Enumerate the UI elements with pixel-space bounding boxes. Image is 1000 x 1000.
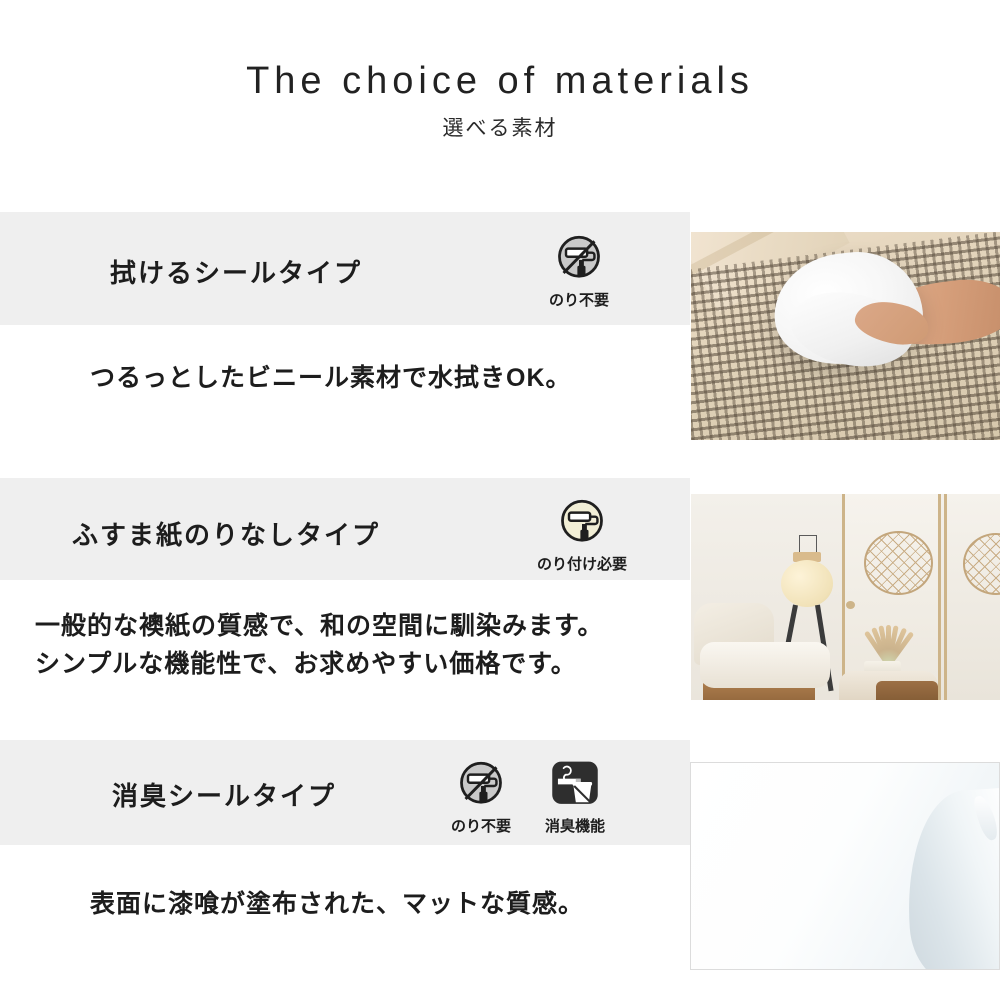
no-glue-roller-icon: [455, 760, 507, 812]
no-glue-roller-icon: [553, 234, 605, 286]
pampas-grass: [852, 607, 920, 665]
badge-deodorize: 消臭機能: [536, 760, 614, 836]
badge-glue-required: のり付け必要: [520, 498, 644, 574]
materials-page: The choice of materials 選べる素材 拭けるシールタイプ: [0, 0, 1000, 1000]
card-3-title: 消臭シールタイプ: [112, 776, 336, 813]
page-subtitle: 選べる素材: [0, 112, 1000, 142]
card-2-title: ふすま紙のりなしタイプ: [72, 515, 380, 552]
badge-glue-required-label: のり付け必要: [537, 553, 627, 574]
page-header: The choice of materials 選べる素材: [0, 0, 1000, 200]
glue-roller-icon: [556, 498, 608, 550]
card-3-photo: [690, 762, 1000, 970]
badge-no-glue: のり不要: [442, 760, 520, 836]
badge-no-glue: のり不要: [540, 234, 618, 310]
card-3-badges: のり不要 消臭機能: [442, 760, 614, 836]
card-1-badges: のり不要: [540, 234, 618, 310]
badge-no-glue-label: のり不要: [451, 815, 511, 836]
page-title: The choice of materials: [0, 60, 1000, 103]
card-1-title: 拭けるシールタイプ: [110, 253, 362, 290]
card-1-description: つるっとしたビニール素材で水拭きOK。: [90, 360, 572, 398]
card-2-photo: [691, 494, 1000, 700]
badge-no-glue-label: のり不要: [549, 289, 609, 310]
deodorize-icon: [549, 760, 601, 812]
card-2-badges: のり付け必要: [520, 498, 644, 574]
card-1-photo: [691, 232, 1000, 440]
card-2-description: 一般的な襖紙の質感で、和の空間に馴染みます。 シンプルな機能性で、お求めやすい価…: [35, 608, 604, 683]
badge-deodorize-label: 消臭機能: [545, 815, 605, 836]
card-3-description: 表面に漆喰が塗布された、マットな質感。: [90, 886, 584, 924]
